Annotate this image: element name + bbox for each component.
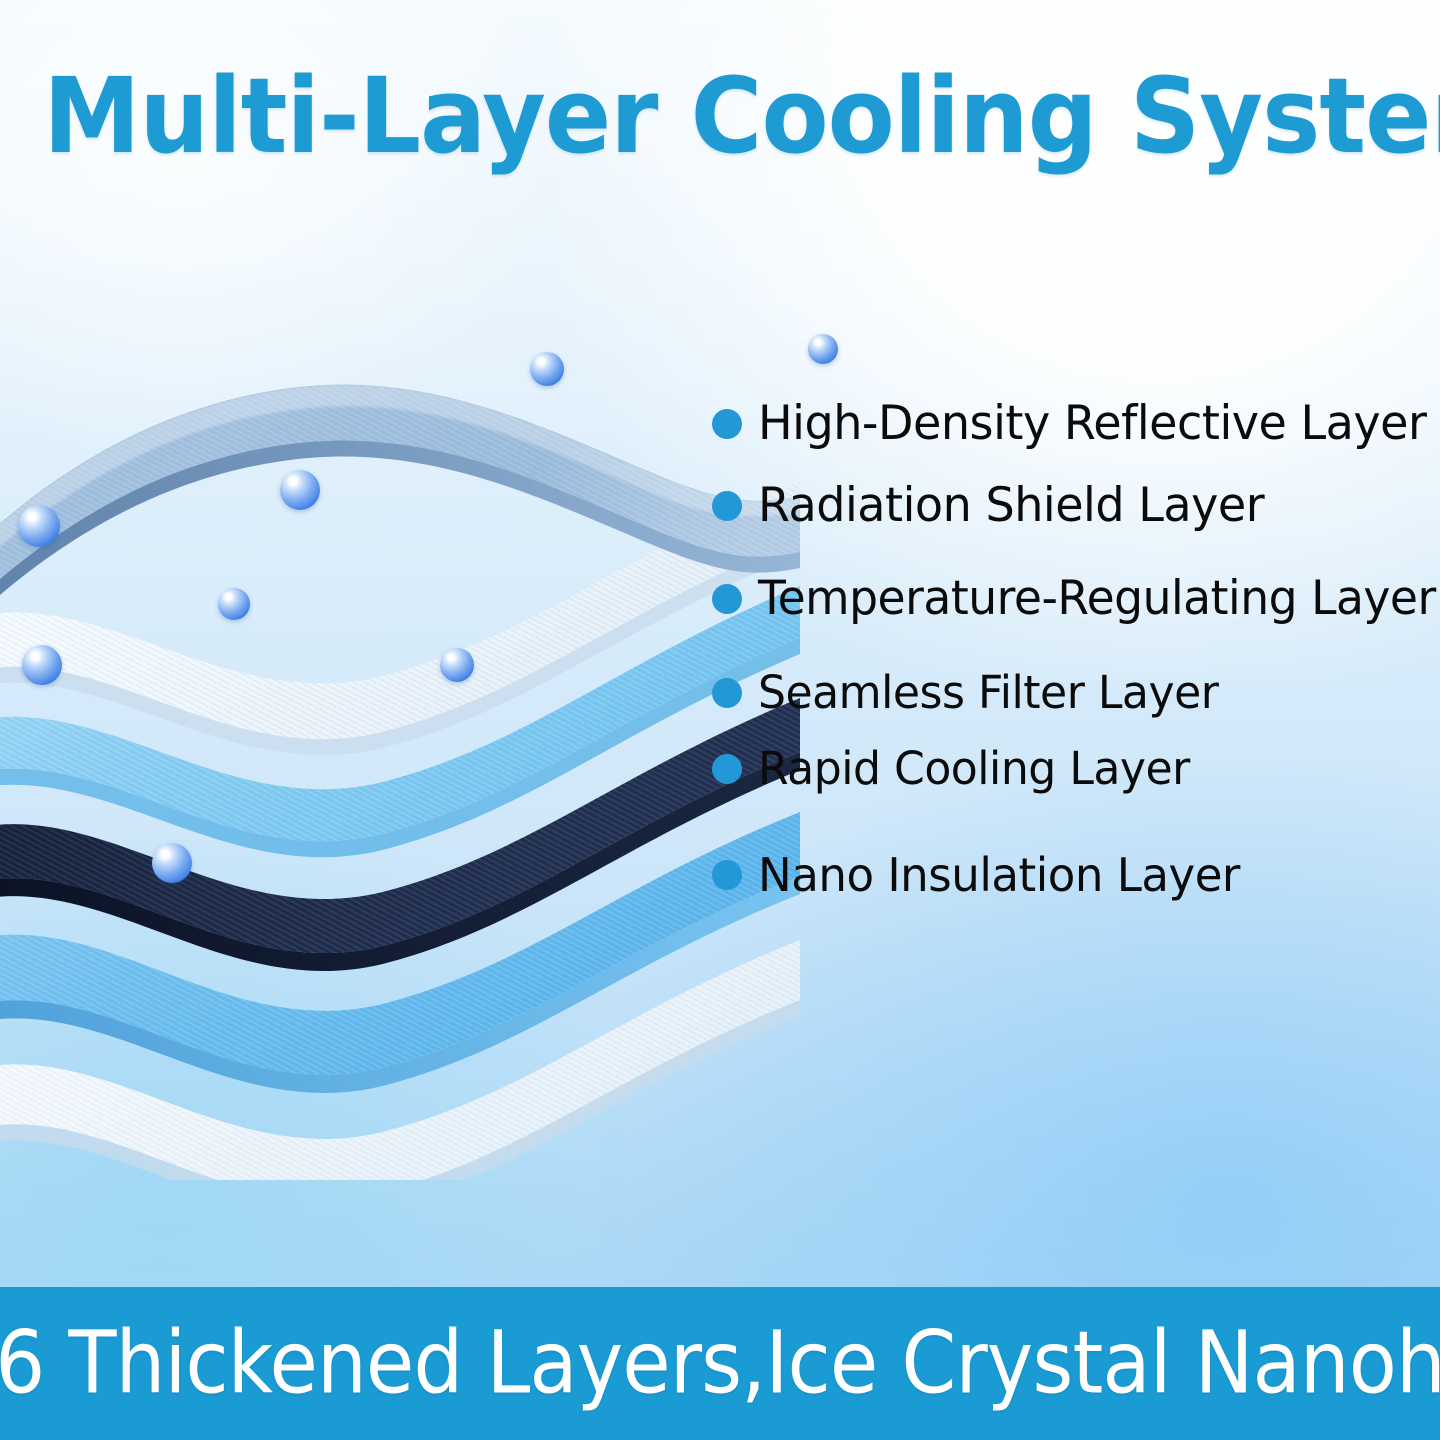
feature-label: Nano Insulation Layer bbox=[758, 848, 1240, 902]
fabric-layers-illustration bbox=[0, 300, 800, 1180]
bullet-dot-icon bbox=[712, 678, 742, 708]
feature-label: Seamless Filter Layer bbox=[758, 666, 1218, 719]
layer-high-density-reflective bbox=[0, 385, 800, 672]
feature-item-high-density-reflective-layer: High-Density Reflective Layer bbox=[712, 396, 1440, 451]
bottom-banner: 6 Thickened Layers,Ice Crystal Nanoh bbox=[0, 1287, 1440, 1440]
bullet-dot-icon bbox=[712, 860, 742, 890]
bullet-dot-icon bbox=[712, 491, 742, 521]
banner-text: 6 Thickened Layers,Ice Crystal Nanoh bbox=[0, 1320, 1440, 1407]
product-infographic-poster: Multi-Layer Cooling System bbox=[0, 0, 1440, 1440]
feature-label: Rapid Cooling Layer bbox=[758, 742, 1190, 795]
page-title: Multi-Layer Cooling System bbox=[43, 62, 1397, 171]
bullet-dot-icon bbox=[712, 409, 742, 439]
bullet-dot-icon bbox=[712, 584, 742, 614]
bullet-dot-icon bbox=[712, 754, 742, 784]
feature-item-seamless-filter-layer: Seamless Filter Layer bbox=[712, 666, 1228, 719]
feature-item-temperature-regulating-layer: Temperature-Regulating Layer bbox=[712, 571, 1440, 626]
feature-item-rapid-cooling-layer: Rapid Cooling Layer bbox=[712, 742, 1199, 795]
feature-item-radiation-shield-layer: Radiation Shield Layer bbox=[712, 478, 1275, 533]
feature-label: Temperature-Regulating Layer bbox=[758, 571, 1436, 626]
feature-label: High-Density Reflective Layer bbox=[758, 396, 1426, 451]
feature-label: Radiation Shield Layer bbox=[758, 478, 1264, 533]
feature-item-nano-insulation-layer: Nano Insulation Layer bbox=[712, 848, 1250, 902]
